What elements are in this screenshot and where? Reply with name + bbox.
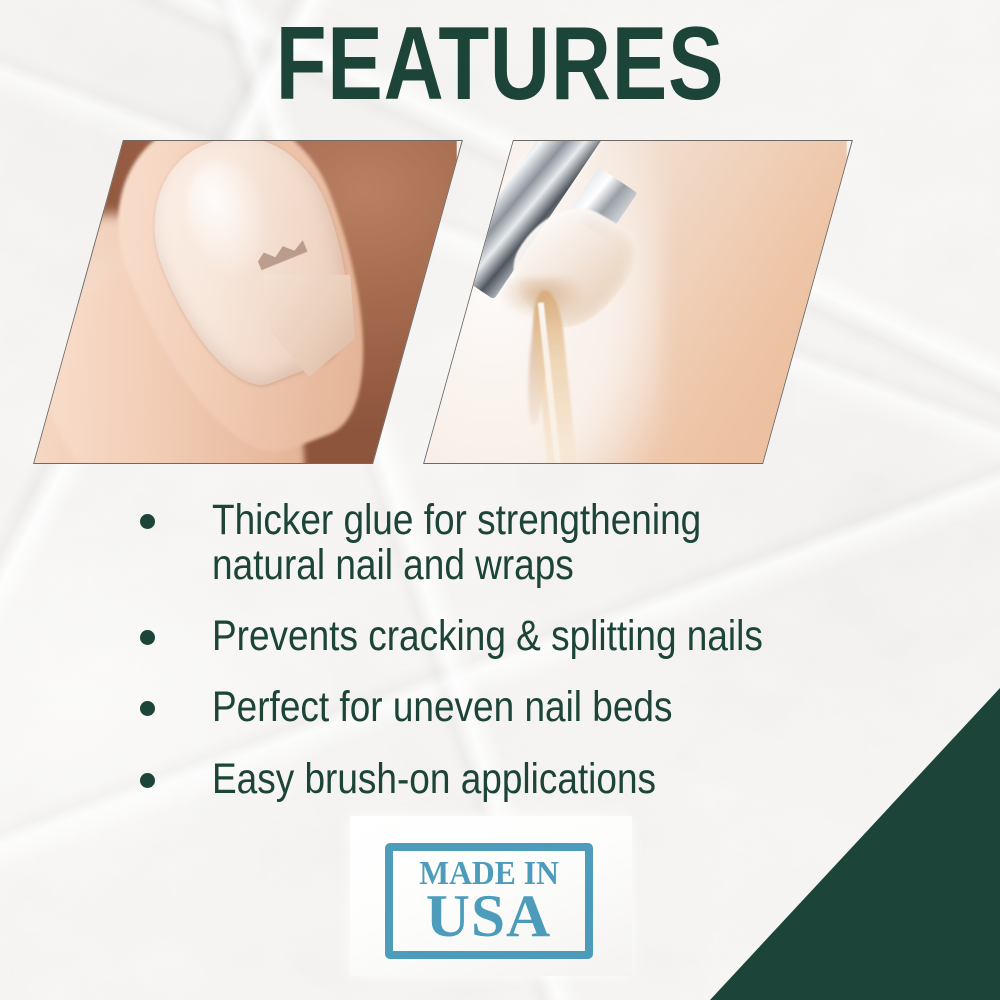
- stamp-line-usa: USA: [426, 889, 551, 944]
- feature-text: Easy brush-on applications: [212, 757, 656, 802]
- bullet-dot-icon: [140, 773, 155, 788]
- list-item: Easy brush-on applications: [140, 757, 900, 802]
- stamp-border: MADE IN USA: [385, 843, 593, 959]
- list-item: Perfect for uneven nail beds: [140, 685, 900, 730]
- page-title: FEATURES: [100, 12, 900, 116]
- feature-list: Thicker glue for strengthening natural n…: [140, 498, 900, 828]
- bullet-dot-icon: [140, 514, 155, 529]
- feature-text: Perfect for uneven nail beds: [212, 685, 672, 730]
- feature-text: Thicker glue for strengthening natural n…: [212, 498, 701, 588]
- features-infographic: FEATURES: [0, 0, 1000, 1000]
- bullet-dot-icon: [140, 630, 155, 645]
- bullet-dot-icon: [140, 701, 155, 716]
- list-item: Thicker glue for strengthening natural n…: [140, 498, 900, 588]
- feature-text: Prevents cracking & splitting nails: [212, 614, 763, 659]
- list-item: Prevents cracking & splitting nails: [140, 614, 900, 659]
- made-in-usa-stamp: MADE IN USA: [350, 816, 632, 976]
